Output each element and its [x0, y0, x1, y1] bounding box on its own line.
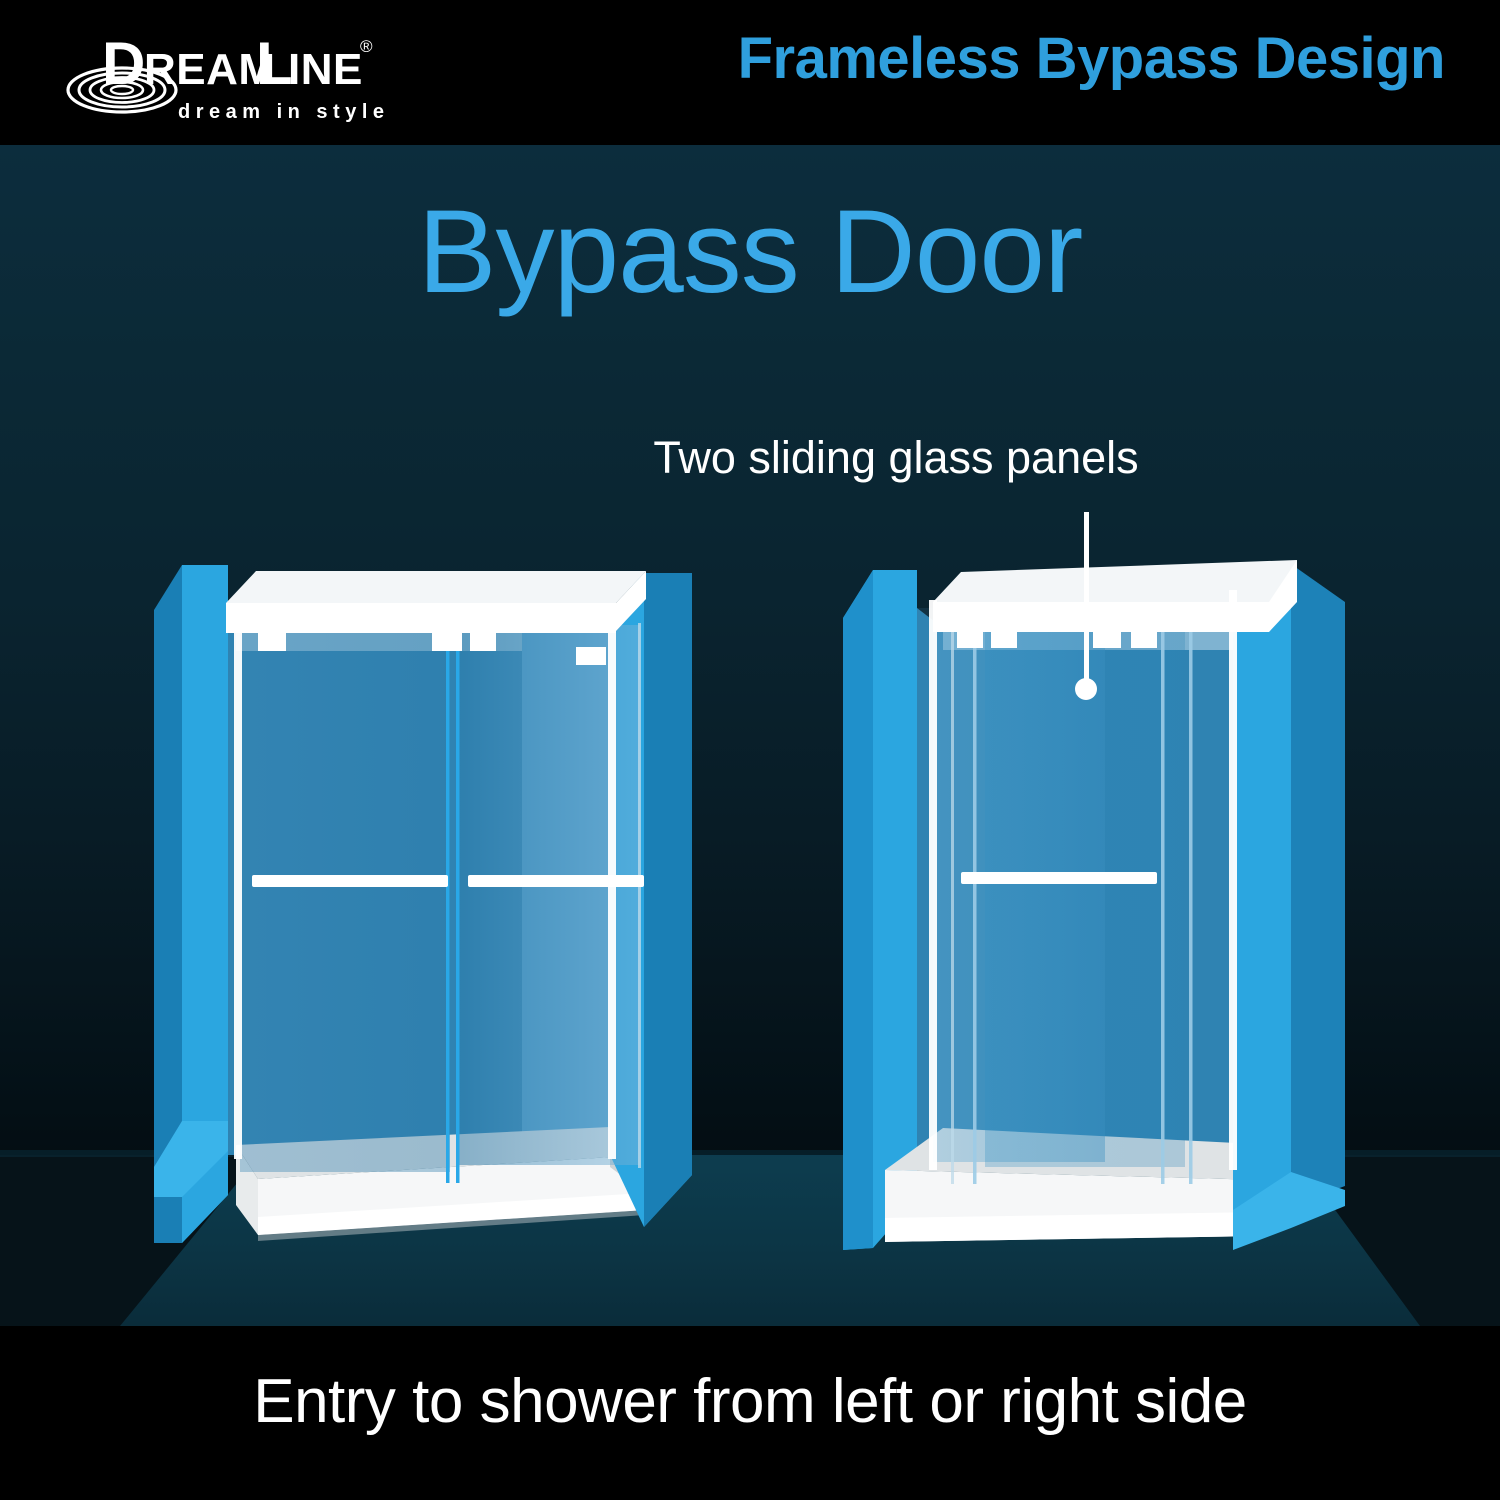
side-wall-right [1233, 562, 1345, 1250]
page-title: Bypass Door [0, 193, 1500, 311]
roller-bracket [957, 632, 983, 648]
handle-bar-left [252, 875, 448, 887]
roller-bracket [258, 633, 286, 651]
roller-bracket [991, 632, 1017, 648]
handle-bar-right [468, 875, 644, 887]
side-wall-left [843, 570, 917, 1250]
dreamline-logo: D REAM L INE ® dream in style [60, 18, 480, 128]
callout-label-sliding-panels: Two sliding glass panels [0, 435, 1500, 480]
enclosure-left-graphic [140, 555, 700, 1255]
roller-bracket [1093, 632, 1121, 648]
glass-panels [240, 623, 641, 1183]
glass-panels [933, 622, 1193, 1184]
product-infographic: D REAM L INE ® dream in style Frameless … [0, 0, 1500, 1500]
shower-enclosure-left-entry [140, 555, 700, 1255]
door-handles [961, 872, 1157, 884]
roller-bracket [470, 633, 496, 651]
side-wall-left [154, 565, 228, 1243]
roller-bracket [576, 647, 606, 665]
roller-bracket [432, 633, 462, 651]
header-bar: D REAM L INE ® dream in style Frameless … [0, 0, 1500, 145]
glass-panel-front [985, 622, 1185, 1167]
footer-bar: Entry to shower from left or right side [0, 1326, 1500, 1500]
logo-tagline: dream in style [178, 101, 390, 123]
registered-trademark-icon: ® [360, 37, 373, 56]
callout-anchor-dot [1075, 678, 1097, 700]
footer-caption: Entry to shower from left or right side [0, 1371, 1500, 1433]
header-tagline: Frameless Bypass Design [738, 30, 1445, 88]
callout-leader-line [1084, 512, 1089, 687]
roller-bracket [1131, 632, 1157, 648]
logo-wordmark-d: D [102, 30, 145, 97]
glass-panel-front [240, 627, 450, 1172]
handle-bar [961, 872, 1157, 884]
dreamline-logo-graphic: D REAM L INE ® dream in style [60, 18, 480, 128]
shower-enclosure-right-entry [825, 550, 1385, 1255]
enclosure-right-graphic [825, 550, 1385, 1255]
logo-wordmark-ine: INE [288, 45, 363, 94]
